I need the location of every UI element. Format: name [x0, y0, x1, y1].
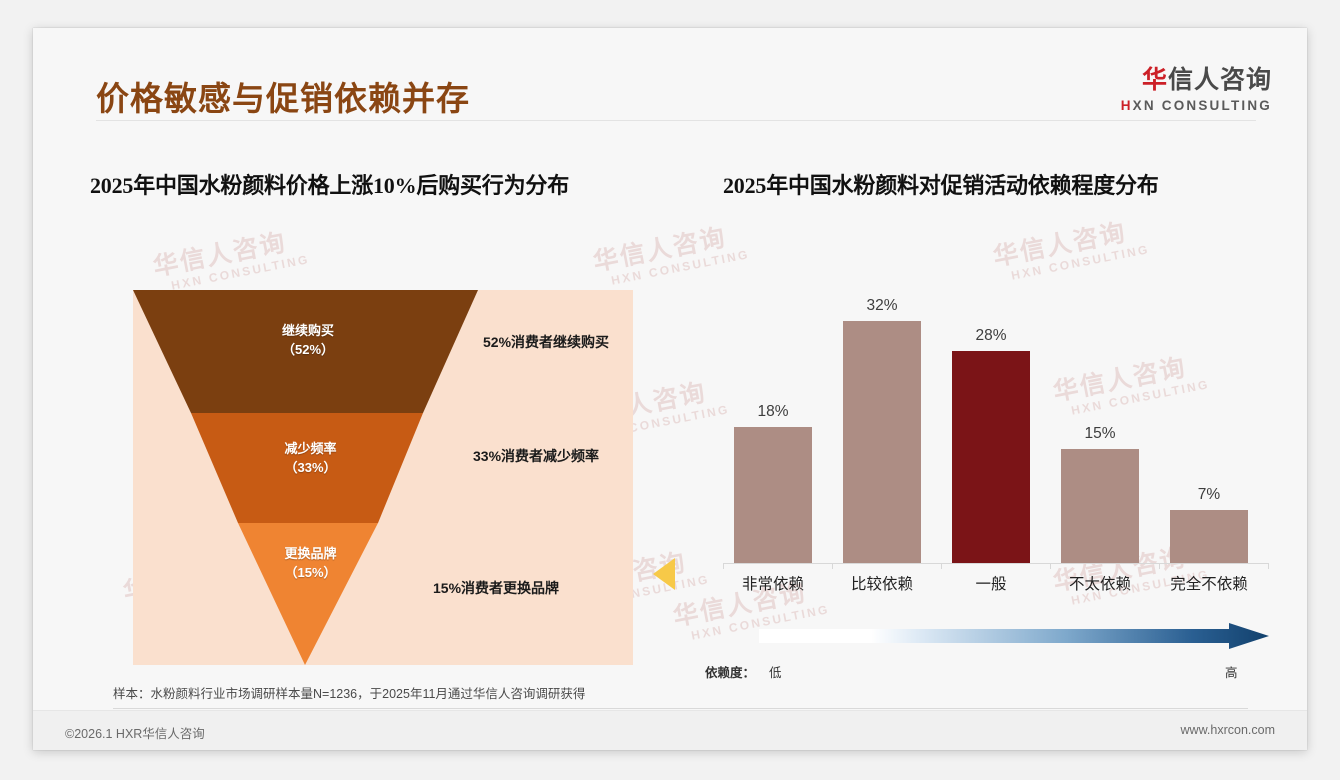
- funnel-note-0: 52%消费者继续购买: [483, 332, 609, 352]
- axis-tick-2: [941, 563, 942, 569]
- logo-chinese: 华信人咨询: [1121, 60, 1272, 96]
- bar-value-2: 28%: [941, 327, 1041, 345]
- bar-value-4: 7%: [1159, 486, 1259, 504]
- bar-column-4[interactable]: 7%: [1159, 510, 1259, 563]
- bar-column-0[interactable]: 18%: [723, 427, 823, 563]
- legend-label: 依赖度：: [705, 662, 755, 681]
- funnel-label-2: 更换品牌 （15%）: [238, 545, 383, 583]
- funnel-chart: 继续购买 （52%） 减少频率 （33%） 更换品牌 （15%） 52%消费者继…: [133, 290, 633, 665]
- bar-chart-axis: [723, 563, 1268, 564]
- company-logo: 华信人咨询 HXN CONSULTING: [1121, 60, 1272, 113]
- footer-website[interactable]: www.hxrcon.com: [1181, 723, 1275, 737]
- watermark: 华信人咨询 HXN CONSULTING: [150, 219, 311, 296]
- bar-category-4: 完全不依赖: [1154, 572, 1264, 594]
- title-divider: [96, 120, 1256, 121]
- footnote: 样本：水粉颜料行业市场调研样本量N=1236，于2025年11月通过华信人咨询调…: [113, 683, 585, 702]
- arrow-left-icon: [653, 558, 675, 590]
- bar-rect-3[interactable]: [1061, 449, 1139, 563]
- bar-value-1: 32%: [832, 297, 932, 315]
- funnel-note-2: 15%消费者更换品牌: [433, 578, 559, 598]
- bar-rect-2[interactable]: [952, 351, 1030, 563]
- funnel-note-1: 33%消费者减少频率: [473, 446, 599, 466]
- watermark: 华信人咨询 HXN CONSULTING: [990, 209, 1151, 286]
- bar-chart: 18%32%28%15%7%: [723, 298, 1268, 563]
- axis-tick-end: [1268, 563, 1269, 569]
- right-chart-title: 2025年中国水粉颜料对促销活动依赖程度分布: [723, 168, 1159, 200]
- watermark: 华信人咨询 HXN CONSULTING: [590, 214, 751, 291]
- gradient-arrow-icon: [759, 623, 1269, 649]
- slide-footer: ©2026.1 HXR华信人咨询 www.hxrcon.com: [33, 710, 1307, 750]
- funnel-label-0: 继续购买 （52%）: [193, 322, 423, 360]
- bar-category-3: 不太依赖: [1045, 572, 1155, 594]
- footnote-divider: [113, 708, 1248, 709]
- bar-value-0: 18%: [723, 403, 823, 421]
- slide-canvas: 华信人咨询 HXN CONSULTING 华信人咨询 HXN CONSULTIN…: [33, 28, 1307, 750]
- bar-column-1[interactable]: 32%: [832, 321, 932, 563]
- footer-copyright: ©2026.1 HXR华信人咨询: [65, 723, 205, 742]
- bar-value-3: 15%: [1050, 425, 1150, 443]
- left-chart-title: 2025年中国水粉颜料价格上涨10%后购买行为分布: [90, 168, 569, 200]
- page-title: 价格敏感与促销依赖并存: [96, 72, 470, 120]
- funnel-label-1: 减少频率 （33%）: [218, 440, 403, 478]
- bar-category-1: 比较依赖: [827, 572, 937, 594]
- legend-high-label: 高: [1225, 662, 1238, 681]
- bar-column-3[interactable]: 15%: [1050, 449, 1150, 563]
- axis-tick-3: [1050, 563, 1051, 569]
- bar-rect-0[interactable]: [734, 427, 812, 563]
- axis-tick-1: [832, 563, 833, 569]
- bar-category-0: 非常依赖: [718, 572, 828, 594]
- logo-english: HXN CONSULTING: [1121, 98, 1272, 113]
- bar-category-2: 一般: [936, 572, 1046, 594]
- bar-column-2[interactable]: 28%: [941, 351, 1041, 563]
- legend-low-label: 低: [769, 662, 782, 681]
- bar-rect-1[interactable]: [843, 321, 921, 563]
- axis-tick-0: [723, 563, 724, 569]
- axis-tick-4: [1159, 563, 1160, 569]
- bar-rect-4[interactable]: [1170, 510, 1248, 563]
